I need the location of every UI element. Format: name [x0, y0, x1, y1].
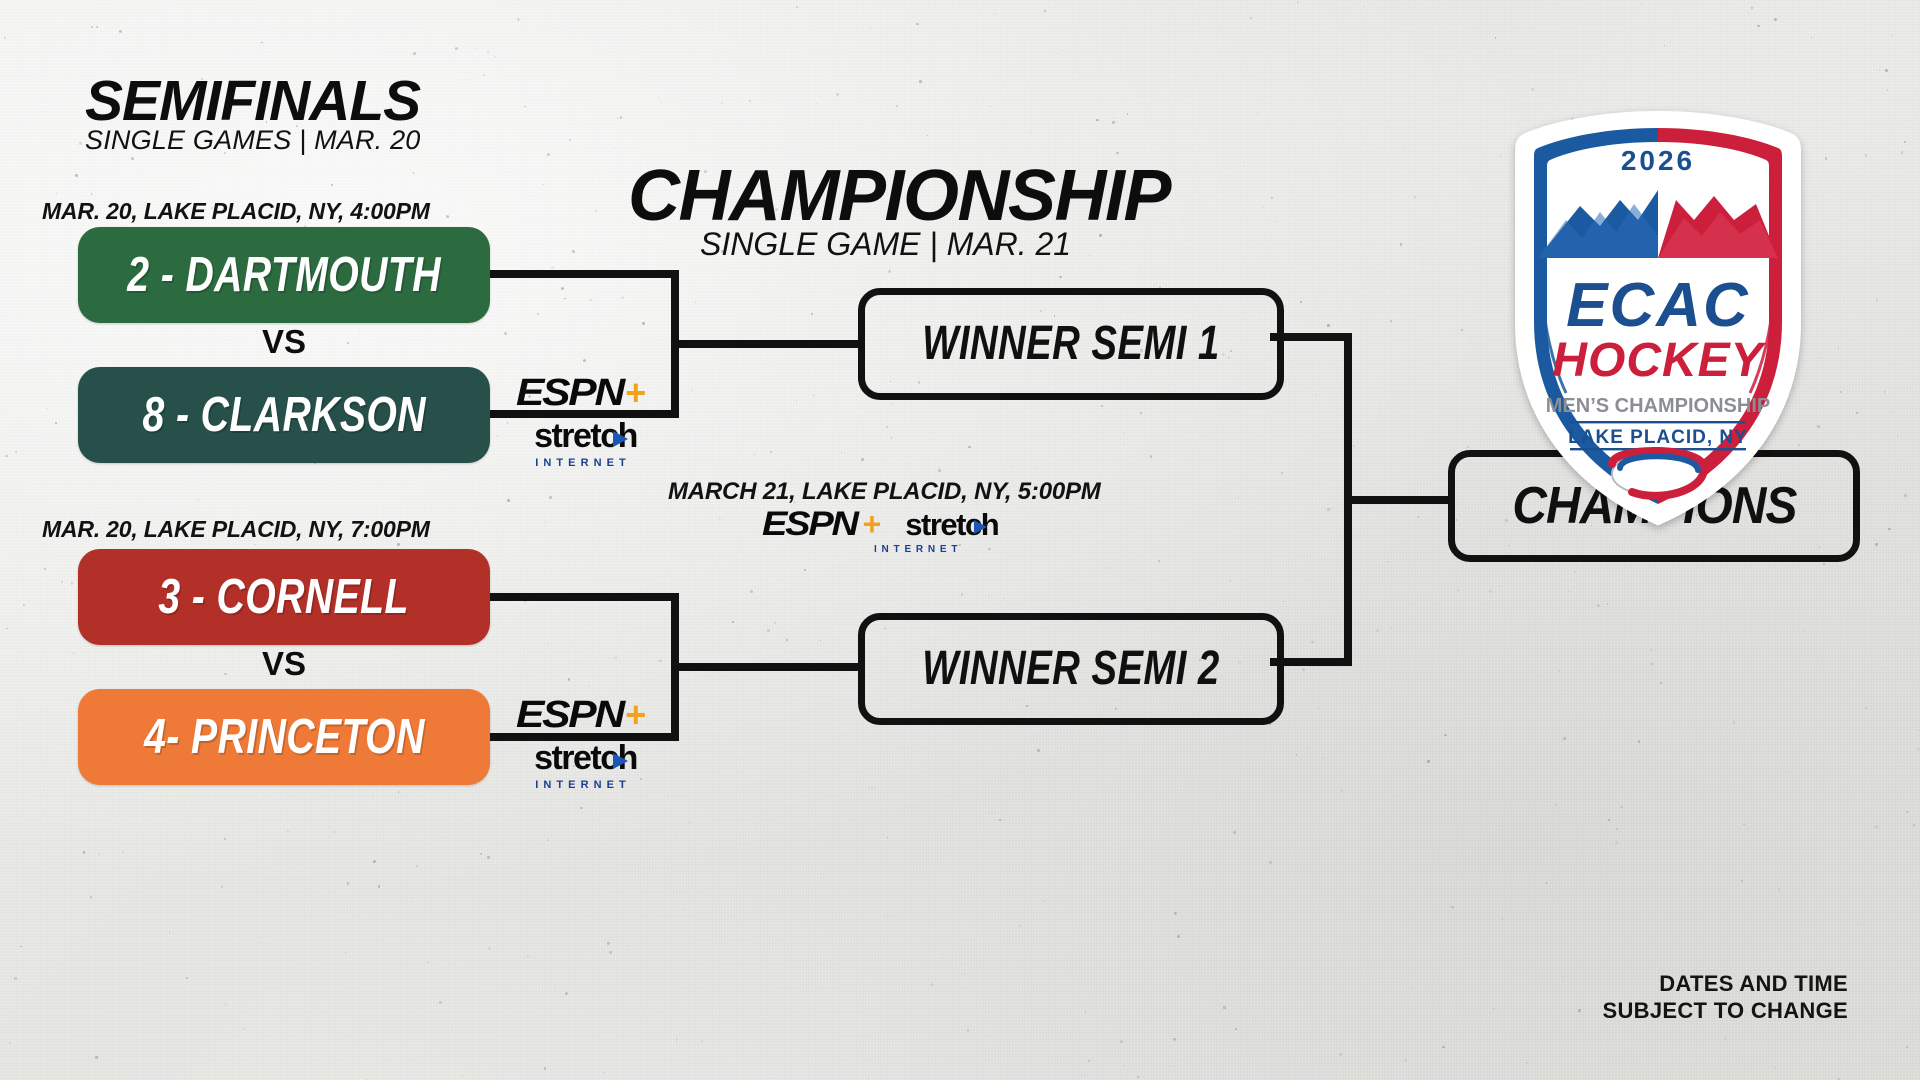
team-label-cornell: 3 - CORNELL	[159, 573, 410, 622]
team-box-clarkson[interactable]: 8 - CLARKSON	[78, 367, 490, 463]
stretch-arrow-icon	[613, 431, 628, 447]
bracket-slot-winner-semi-2[interactable]: WINNER SEMI 2	[858, 613, 1284, 725]
broadcast-logos-championship: ESPN + stretch I N T E R N E T	[762, 505, 1002, 555]
espn-wordmark: ESPN	[516, 372, 623, 415]
disclaimer-line-1: DATES AND TIME	[1603, 971, 1849, 998]
connector-semifinal-2-to-winner	[671, 663, 861, 671]
espn-plus-icon: +	[625, 699, 646, 731]
espn-plus-logo-semifinal-1: ESPN +	[506, 372, 656, 415]
disclaimer-note: DATES AND TIME SUBJECT TO CHANGE	[1603, 971, 1849, 1025]
espn-wordmark: ESPN	[762, 505, 857, 544]
versus-label-semifinal-1: VS	[219, 323, 349, 361]
logo-conference: ECAC	[1566, 271, 1750, 340]
broadcast-logos-semifinal-1: ESPN + stretch I N T E R N E T	[506, 372, 656, 469]
championship-title: CHAMPIONSHIP	[628, 155, 1170, 237]
espn-plus-logo-championship: ESPN + stretch	[762, 505, 1002, 544]
winner-semi-1-label: WINNER SEMI 1	[922, 320, 1220, 368]
logo-location: LAKE PLACID, NY	[1568, 427, 1748, 448]
semifinals-subtitle: SINGLE GAMES | MAR. 20	[85, 125, 421, 156]
connector-dartmouth-horizontal	[490, 270, 679, 278]
team-box-cornell[interactable]: 3 - CORNELL	[78, 549, 490, 645]
connector-championship-to-champions	[1344, 496, 1454, 504]
team-label-princeton: 4- PRINCETON	[144, 713, 425, 762]
semifinal-2-game-info: MAR. 20, LAKE PLACID, NY, 7:00PM	[42, 516, 430, 543]
espn-plus-logo-semifinal-2: ESPN +	[506, 694, 656, 737]
bracket-canvas: SEMIFINALS SINGLE GAMES | MAR. 20 CHAMPI…	[0, 0, 1920, 1080]
broadcast-logos-semifinal-2: ESPN + stretch I N T E R N E T	[506, 694, 656, 791]
stretch-internet-label: I N T E R N E T	[874, 544, 1002, 555]
versus-label-semifinal-2: VS	[219, 645, 349, 683]
stretch-internet-label: I N T E R N E T	[506, 457, 656, 469]
stretch-arrow-icon	[974, 520, 987, 534]
espn-plus-icon: +	[625, 377, 646, 409]
logo-year: 2026	[1621, 145, 1695, 176]
stretch-internet-logo-semifinal-2: stretch	[506, 739, 656, 778]
stretch-internet-label: I N T E R N E T	[506, 779, 656, 791]
team-label-clarkson: 8 - CLARKSON	[142, 391, 426, 440]
connector-semifinal-1-to-winner	[671, 340, 861, 348]
connector-winner-semi-2-out	[1270, 658, 1352, 666]
connector-winner-semi-1-out	[1270, 333, 1352, 341]
championship-game-info: MARCH 21, LAKE PLACID, NY, 5:00PM	[668, 478, 1101, 506]
espn-wordmark: ESPN	[516, 694, 623, 737]
disclaimer-line-2: SUBJECT TO CHANGE	[1603, 998, 1849, 1025]
connector-cornell-horizontal	[490, 593, 679, 601]
logo-event: MEN’S CHAMPIONSHIP	[1546, 395, 1770, 417]
winner-semi-2-label: WINNER SEMI 2	[922, 645, 1220, 693]
team-label-dartmouth: 2 - DARTMOUTH	[127, 251, 441, 300]
bracket-slot-winner-semi-1[interactable]: WINNER SEMI 1	[858, 288, 1284, 400]
championship-subtitle: SINGLE GAME | MAR. 21	[700, 226, 1071, 263]
stretch-arrow-icon	[613, 753, 628, 769]
semifinal-1-game-info: MAR. 20, LAKE PLACID, NY, 4:00PM	[42, 198, 430, 225]
stretch-internet-logo-semifinal-1: stretch	[506, 417, 656, 456]
ecac-hockey-championship-logo: 2026 ECAC HOCKEY MEN’S CHAMPIONSHIP LAKE…	[1508, 108, 1808, 528]
espn-plus-icon: +	[863, 510, 882, 539]
team-box-dartmouth[interactable]: 2 - DARTMOUTH	[78, 227, 490, 323]
team-box-princeton[interactable]: 4- PRINCETON	[78, 689, 490, 785]
logo-sport: HOCKEY	[1552, 334, 1766, 387]
